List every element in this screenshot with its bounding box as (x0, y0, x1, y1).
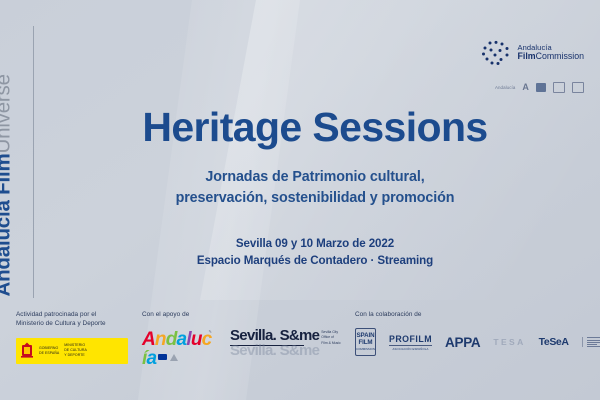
page-title: Heritage Sessions (60, 105, 570, 149)
vertical-brand: Andalucía FilmUniverse (14, 28, 48, 296)
tesea-logo: TeSeA (539, 336, 569, 348)
eu-flag-icon (158, 354, 167, 360)
partner-bars-logo (582, 337, 600, 347)
gobierno-text-col1: GOBIERNO DE ESPAÑA (39, 346, 59, 355)
dot-grid-icon (481, 40, 511, 66)
subtitle-line-1: Jornadas de Patrimonio cultural, (205, 169, 424, 185)
spain-film-line2: FILM (358, 340, 372, 347)
gob-line-deporte: Y DEPORTE (64, 353, 87, 358)
strip-logo-four (553, 82, 565, 93)
footer-sponsors: Actividad patrocinada por el Ministerio … (0, 305, 600, 400)
strip-label-andalucia: Andalucía (495, 85, 515, 90)
afc-partner-strip: Andalucía A (495, 80, 584, 94)
support-heading: Con el apoyo de (142, 310, 342, 319)
spain-film-commission-logo: SPAIN FILM COMMISSION (355, 328, 376, 356)
strip-logo-five (572, 82, 584, 93)
gobierno-de-espana-logo: GOBIERNO DE ESPAÑA MINISTERIO DE CULTURA… (16, 338, 128, 364)
main-content: Heritage Sessions Jornadas de Patrimonio… (60, 105, 570, 208)
andalucia-sublogos (158, 354, 178, 361)
vertical-brand-light: Universe (0, 74, 15, 153)
strip-logo-a: A (522, 82, 529, 92)
profilm-wordmark: PROFILM (389, 334, 432, 344)
profilm-caption: ASOCIACIÓN ESPAÑOLA (389, 345, 432, 351)
sevilla-caption-3: Film & Music (321, 341, 349, 346)
subtitle-line-2: preservación, sostenibilidad y promoción (176, 190, 455, 206)
junta-mark-icon (170, 354, 178, 361)
gob-line-espana: DE ESPAÑA (39, 351, 59, 356)
poster-canvas: Andalucía FilmUniverse (0, 0, 600, 400)
tesa-logo: TESA (493, 337, 525, 347)
afc-logo: Andalucía FilmCommission (481, 40, 585, 66)
profilm-logo: PROFILM ASOCIACIÓN ESPAÑOLA (389, 334, 432, 351)
support-column: Con el apoyo de ✎ Andalucía Sevilla. S&m… (142, 310, 342, 360)
event-date: Sevilla 09 y 10 Marzo de 2022 (60, 236, 570, 253)
gobierno-text-col2: MINISTERIO DE CULTURA Y DEPORTE (64, 343, 87, 357)
sponsor-column: Actividad patrocinada por el Ministerio … (16, 310, 134, 364)
vertical-brand-bold: Andalucía Film (0, 153, 15, 296)
sevilla-ghost-wordmark: Sevilla. S&me (230, 343, 319, 358)
sponsor-heading-line1: Actividad patrocinada por el (16, 310, 134, 319)
collaboration-column: Con la colaboración de SPAIN FILM COMMIS… (355, 310, 590, 356)
appa-logo: APPA (445, 335, 480, 350)
event-venue: Espacio Marqués de Contadero · Streaming (60, 253, 570, 270)
sponsor-heading-line2: Ministerio de Cultura y Deporte (16, 319, 134, 328)
gob-line-gobierno: GOBIERNO (39, 346, 59, 351)
andalucia-wordmark: Andalucía (142, 330, 214, 368)
andalucia-logo: ✎ Andalucía (142, 330, 214, 360)
sevilla-sme-caption: Sevilla City Office of Film & Music (321, 330, 349, 345)
sevilla-sme-logo: Sevilla. S&me Sevilla. S&me Sevilla City… (230, 328, 319, 360)
event-details: Sevilla 09 y 10 Marzo de 2022 Espacio Ma… (60, 236, 570, 270)
andalucia-junta-tag: ✎ (208, 329, 212, 334)
afc-logo-commission: Commission (536, 51, 584, 61)
collaboration-heading: Con la colaboración de (355, 310, 590, 319)
spain-coat-of-arms-icon (20, 342, 34, 360)
afc-logo-film: Film (518, 51, 536, 61)
strip-logo-eu (536, 83, 546, 92)
spain-film-line3: COMMISSION (356, 348, 375, 351)
vertical-accent-rule (33, 26, 34, 298)
